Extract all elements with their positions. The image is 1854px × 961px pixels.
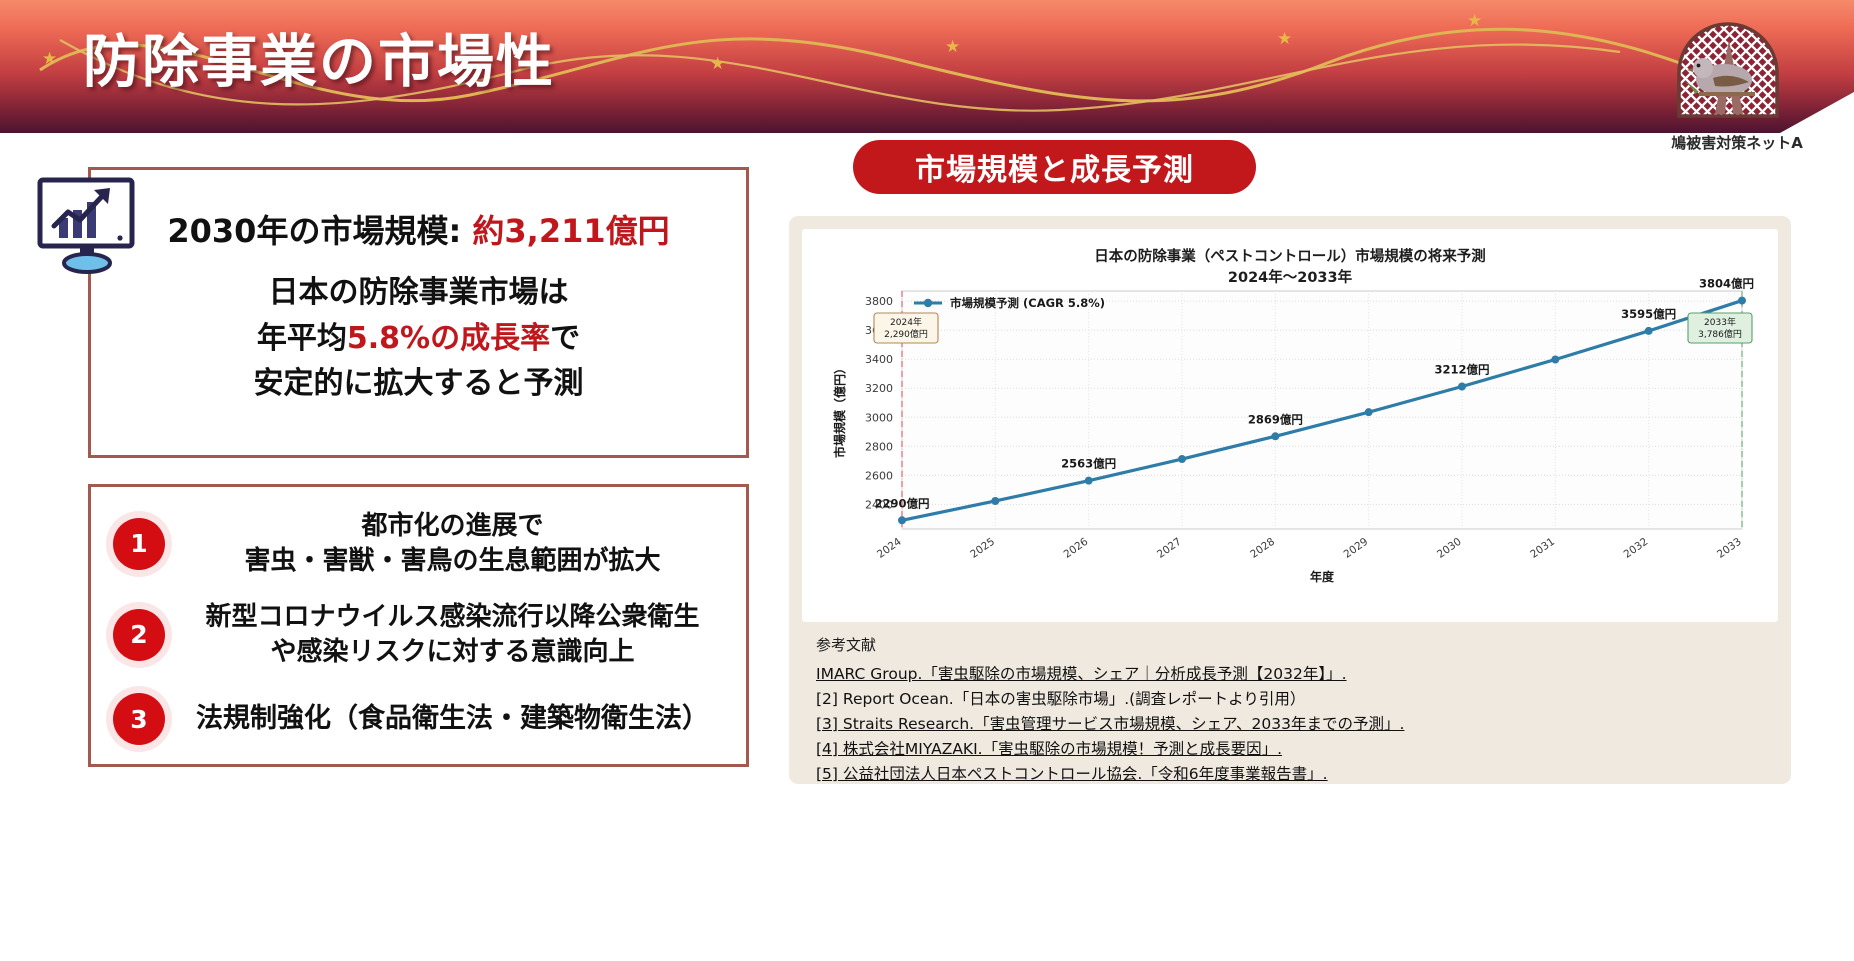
svg-text:2600: 2600: [865, 469, 893, 482]
headline-body-line3: 安定的に拡大すると予測: [91, 361, 746, 407]
svg-text:3595億円: 3595億円: [1621, 307, 1676, 321]
star-icon: ★: [1277, 30, 1292, 47]
svg-text:3400: 3400: [865, 353, 893, 366]
headline-body-line2-post: で: [550, 321, 580, 356]
section-badge: 市場規模と成長予測: [853, 140, 1256, 194]
svg-text:2290億円: 2290億円: [874, 496, 929, 510]
factor-number-badge: 1: [113, 518, 165, 570]
svg-text:年度: 年度: [1310, 569, 1335, 584]
svg-text:2024: 2024: [875, 535, 904, 560]
headline-value: 約3,211億円: [472, 212, 669, 250]
list-item: 1 都市化の進展で 害虫・害獣・害鳥の生息範囲が拡大: [91, 509, 746, 579]
svg-text:3800: 3800: [865, 295, 893, 308]
factor-number-badge: 2: [113, 609, 165, 661]
factor-text: 法規制強化（食品衛生法・建築物衛生法）: [173, 701, 746, 737]
star-icon: ★: [1467, 12, 1482, 29]
headline-body-line1: 日本の防除事業市場は: [91, 270, 746, 316]
market-forecast-line-chart: 2400260028003000320034003600380020242025…: [802, 229, 1778, 622]
svg-text:2030: 2030: [1435, 536, 1464, 561]
svg-text:2028: 2028: [1248, 536, 1277, 561]
svg-text:市場規模（億円）: 市場規模（億円）: [832, 362, 847, 458]
page-title: 防除事業の市場性: [83, 16, 555, 98]
svg-text:2027: 2027: [1155, 536, 1184, 561]
references-section: 参考文献 IMARC Group.「害虫駆除の市場規模、シェア｜分析成長予測【2…: [816, 634, 1766, 788]
svg-text:市場規模予測 (CAGR 5.8%): 市場規模予測 (CAGR 5.8%): [950, 296, 1105, 310]
reference-item[interactable]: [3] Straits Research.「害虫管理サービス市場規模、シェア、2…: [816, 712, 1766, 737]
svg-text:2800: 2800: [865, 440, 893, 453]
reference-item[interactable]: [2] Report Ocean.「日本の害虫駆除市場」.(調査レポートより引用…: [816, 687, 1766, 712]
header-banner: ★ ★ ★ ★ ★ ★ 防除事業の市場性: [0, 0, 1854, 133]
svg-text:3200: 3200: [865, 382, 893, 395]
brand-logo: 鳩被害対策ネットA: [1669, 18, 1805, 178]
svg-text:2869億円: 2869億円: [1248, 412, 1303, 426]
svg-text:3804億円: 3804億円: [1699, 277, 1754, 291]
svg-text:2026: 2026: [1062, 535, 1091, 560]
svg-text:2033年: 2033年: [1704, 316, 1736, 328]
reference-item[interactable]: [5] 公益社団法人日本ペストコントロール協会.「令和6年度事業報告書」.: [816, 762, 1766, 787]
svg-text:2,290億円: 2,290億円: [884, 328, 928, 340]
star-icon: ★: [945, 38, 960, 55]
factor-number-badge: 3: [113, 693, 165, 745]
svg-text:2031: 2031: [1528, 536, 1557, 561]
svg-text:2563億円: 2563億円: [1061, 457, 1116, 471]
reference-item[interactable]: [4] 株式会社MIYAZAKI.「害虫駆除の市場規模！予測と成長要因」.: [816, 737, 1766, 762]
reference-item[interactable]: IMARC Group.「害虫駆除の市場規模、シェア｜分析成長予測【2032年】…: [816, 662, 1766, 687]
references-title: 参考文献: [816, 634, 1766, 655]
headline-body: 日本の防除事業市場は 年平均5.8%の成長率で 安定的に拡大すると予測: [91, 270, 746, 407]
list-item: 2 新型コロナウイルス感染流行以降公衆衛生 や感染リスクに対する意識向上: [91, 600, 746, 670]
svg-text:2033: 2033: [1715, 536, 1744, 561]
factor-text: 都市化の進展で 害虫・害獣・害鳥の生息範囲が拡大: [173, 509, 746, 579]
svg-text:2032: 2032: [1622, 536, 1651, 561]
factors-card: 1 都市化の進展で 害虫・害獣・害鳥の生息範囲が拡大 2 新型コロナウイルス感染…: [88, 484, 749, 767]
pigeon-net-logo-icon: [1669, 18, 1787, 130]
svg-text:3000: 3000: [865, 411, 893, 424]
star-icon: ★: [42, 50, 57, 67]
svg-text:3212億円: 3212億円: [1434, 362, 1489, 376]
headline-cagr: 5.8%の成長率: [347, 321, 550, 356]
svg-text:2029: 2029: [1342, 536, 1371, 561]
chart-container: 日本の防除事業（ペストコントロール）市場規模の将来予測 2024年〜2033年 …: [802, 229, 1778, 622]
headline-body-line2-pre: 年平均: [257, 321, 347, 356]
headline-card: 2030年の市場規模: 約3,211億円 日本の防除事業市場は 年平均5.8%の…: [88, 167, 749, 458]
headline-body-line2: 年平均5.8%の成長率で: [91, 316, 746, 362]
factor-text: 新型コロナウイルス感染流行以降公衆衛生 や感染リスクに対する意識向上: [173, 600, 746, 670]
svg-text:3,786億円: 3,786億円: [1698, 328, 1742, 340]
growth-chart-monitor-icon: [32, 168, 142, 278]
list-item: 3 法規制強化（食品衛生法・建築物衛生法）: [91, 693, 746, 745]
headline-prefix: 2030年の市場規模:: [167, 212, 472, 250]
svg-text:2025: 2025: [968, 536, 997, 561]
svg-text:2024年: 2024年: [890, 316, 922, 328]
logo-caption: 鳩被害対策ネットA: [1657, 132, 1817, 153]
chart-panel: 日本の防除事業（ペストコントロール）市場規模の将来予測 2024年〜2033年 …: [789, 216, 1791, 784]
star-icon: ★: [710, 55, 725, 72]
headline-market-size: 2030年の市場規模: 約3,211億円: [91, 206, 746, 252]
